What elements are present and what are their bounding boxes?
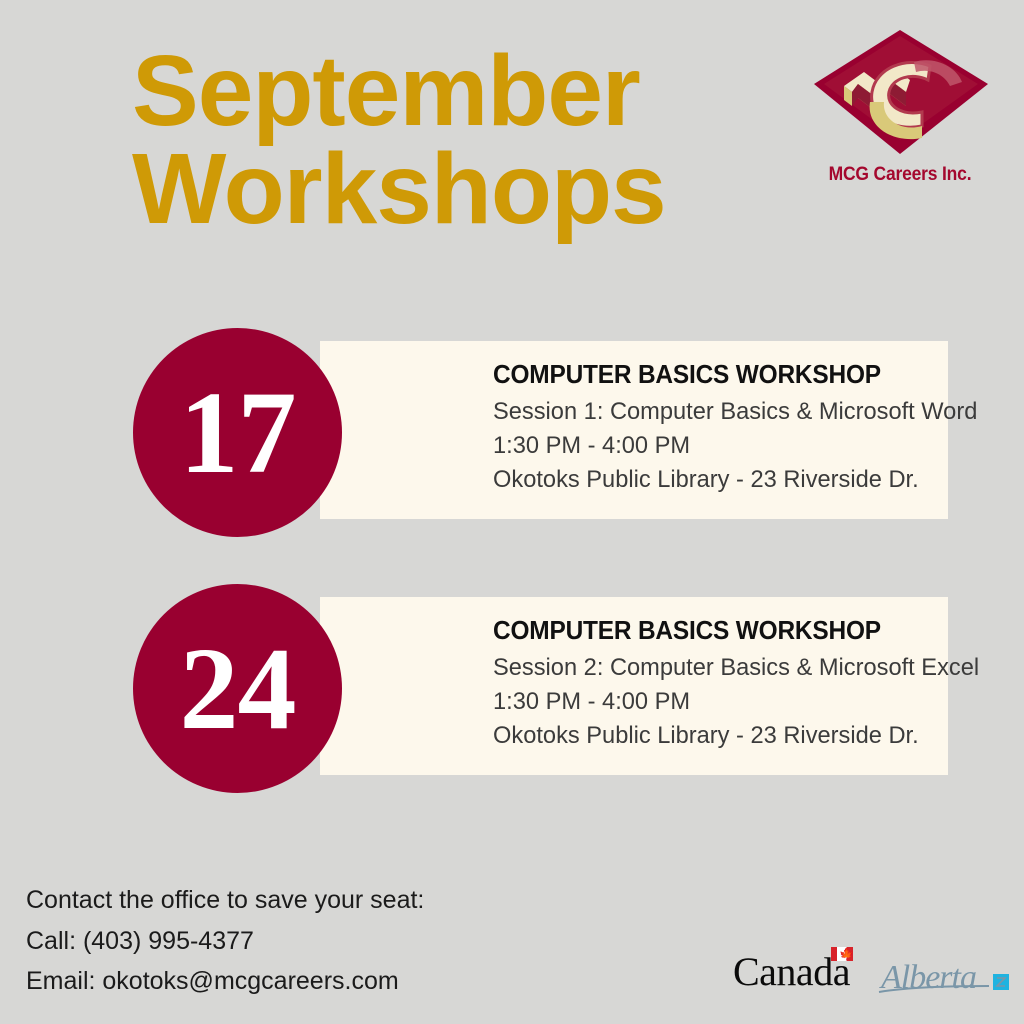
event-day-badge: 24 — [133, 584, 342, 793]
brand-logo: MCG Careers Inc. — [800, 22, 1000, 186]
contact-email: Email: okotoks@mcgcareers.com — [26, 961, 686, 1002]
event-session: Session 2: Computer Basics & Microsoft E… — [493, 651, 921, 685]
event-location: Okotoks Public Library - 23 Riverside Dr… — [493, 719, 921, 753]
title-line-2: Workshops — [132, 140, 772, 238]
event-session: Session 1: Computer Basics & Microsoft W… — [493, 395, 921, 429]
event-time: 1:30 PM - 4:00 PM — [493, 429, 921, 463]
event-card: COMPUTER BASICS WORKSHOP Session 1: Comp… — [320, 341, 948, 519]
logo-caption: MCG Careers Inc. — [808, 164, 992, 186]
event-card: COMPUTER BASICS WORKSHOP Session 2: Comp… — [320, 597, 948, 775]
mcg-diamond-icon — [810, 22, 990, 162]
contact-heading: Contact the office to save your seat: — [26, 880, 686, 921]
event-title: COMPUTER BASICS WORKSHOP — [493, 615, 902, 646]
poster-canvas: September Workshops MCG Careers Inc. — [0, 0, 1024, 1024]
event-row: COMPUTER BASICS WORKSHOP Session 1: Comp… — [133, 328, 948, 538]
event-day-badge: 17 — [133, 328, 342, 537]
title-line-1: September — [132, 42, 772, 140]
contact-phone: Call: (403) 995-4377 — [26, 921, 686, 962]
page-title: September Workshops — [132, 42, 772, 238]
contact-block: Contact the office to save your seat: Ca… — [26, 880, 686, 1002]
canada-flag-icon: 🍁 — [831, 947, 853, 961]
government-logos: Canada 🍁 Alberta — [725, 948, 1015, 1008]
alberta-wordmark: Alberta — [877, 948, 1017, 1004]
canada-wordmark: Canada 🍁 — [733, 952, 850, 992]
event-row: COMPUTER BASICS WORKSHOP Session 2: Comp… — [133, 584, 948, 794]
event-location: Okotoks Public Library - 23 Riverside Dr… — [493, 463, 921, 497]
event-time: 1:30 PM - 4:00 PM — [493, 685, 921, 719]
event-title: COMPUTER BASICS WORKSHOP — [493, 359, 902, 390]
